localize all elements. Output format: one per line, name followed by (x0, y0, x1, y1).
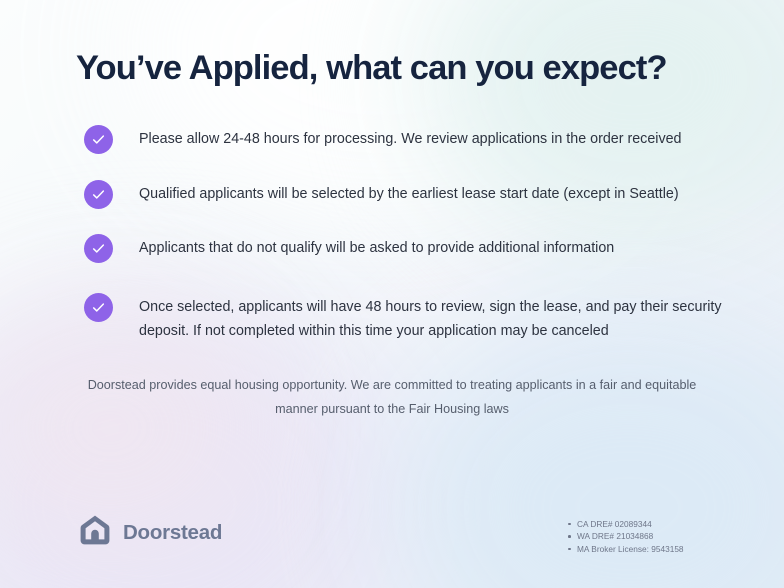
list-item-label: Once selected, applicants will have 48 h… (139, 292, 744, 343)
check-circle-icon (84, 125, 113, 154)
check-circle-icon (84, 234, 113, 263)
list-item-label: Applicants that do not qualify will be a… (139, 233, 614, 260)
list-item: Qualified applicants will be selected by… (84, 179, 744, 209)
list-item-label: Qualified applicants will be selected by… (139, 179, 679, 206)
slide-content: You’ve Applied, what can you expect? Ple… (0, 0, 784, 588)
slide-canvas: You’ve Applied, what can you expect? Ple… (0, 0, 784, 588)
fair-housing-disclaimer: Doorstead provides equal housing opportu… (87, 373, 697, 421)
license-item: CA DRE# 02089344 (567, 518, 684, 530)
brand-name: Doorstead (123, 521, 222, 545)
license-item: MA Broker License: 9543158 (567, 543, 684, 555)
list-item-label: Please allow 24-48 hours for processing.… (139, 124, 682, 151)
license-list: CA DRE# 02089344 WA DRE# 21034868 MA Bro… (567, 518, 684, 555)
page-title: You’ve Applied, what can you expect? (76, 49, 667, 88)
list-item: Please allow 24-48 hours for processing.… (84, 124, 744, 154)
doorstead-house-logo-icon (78, 513, 112, 552)
license-item: WA DRE# 21034868 (567, 530, 684, 542)
expectations-list: Please allow 24-48 hours for processing.… (84, 124, 744, 343)
check-circle-icon (84, 293, 113, 322)
check-circle-icon (84, 180, 113, 209)
list-item: Applicants that do not qualify will be a… (84, 233, 744, 263)
list-item: Once selected, applicants will have 48 h… (84, 292, 744, 343)
brand-logo: Doorstead (78, 513, 222, 552)
